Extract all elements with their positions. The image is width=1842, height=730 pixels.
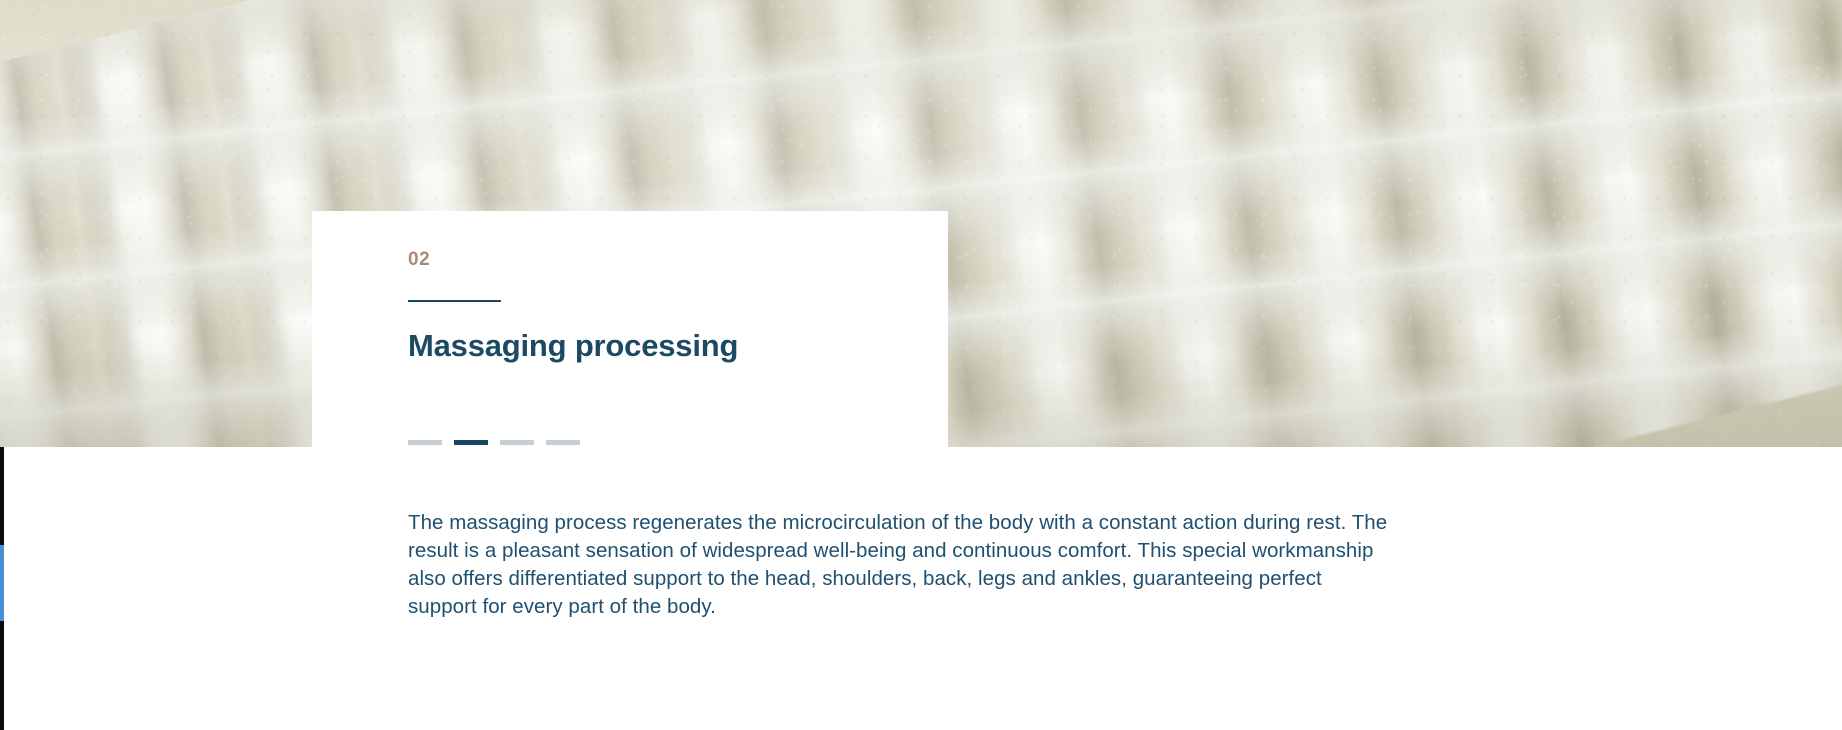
- carousel-indicator-1[interactable]: [408, 440, 442, 445]
- slide-content-card: 02 Massaging processing: [312, 211, 948, 447]
- carousel-indicator-4[interactable]: [546, 440, 580, 445]
- carousel-indicator-2[interactable]: [454, 440, 488, 445]
- page-scrollbar-track[interactable]: [0, 447, 4, 730]
- step-number: 02: [408, 250, 908, 269]
- carousel-indicator-3[interactable]: [500, 440, 534, 445]
- slide-content-inner: 02 Massaging processing: [408, 250, 908, 364]
- page-root: 02 Massaging processing The massaging pr…: [0, 0, 1842, 730]
- page-scrollbar-thumb[interactable]: [0, 545, 4, 621]
- carousel-indicators[interactable]: [408, 440, 580, 445]
- body-paragraph: The massaging process regenerates the mi…: [408, 509, 1393, 621]
- page-title: Massaging processing: [408, 302, 908, 364]
